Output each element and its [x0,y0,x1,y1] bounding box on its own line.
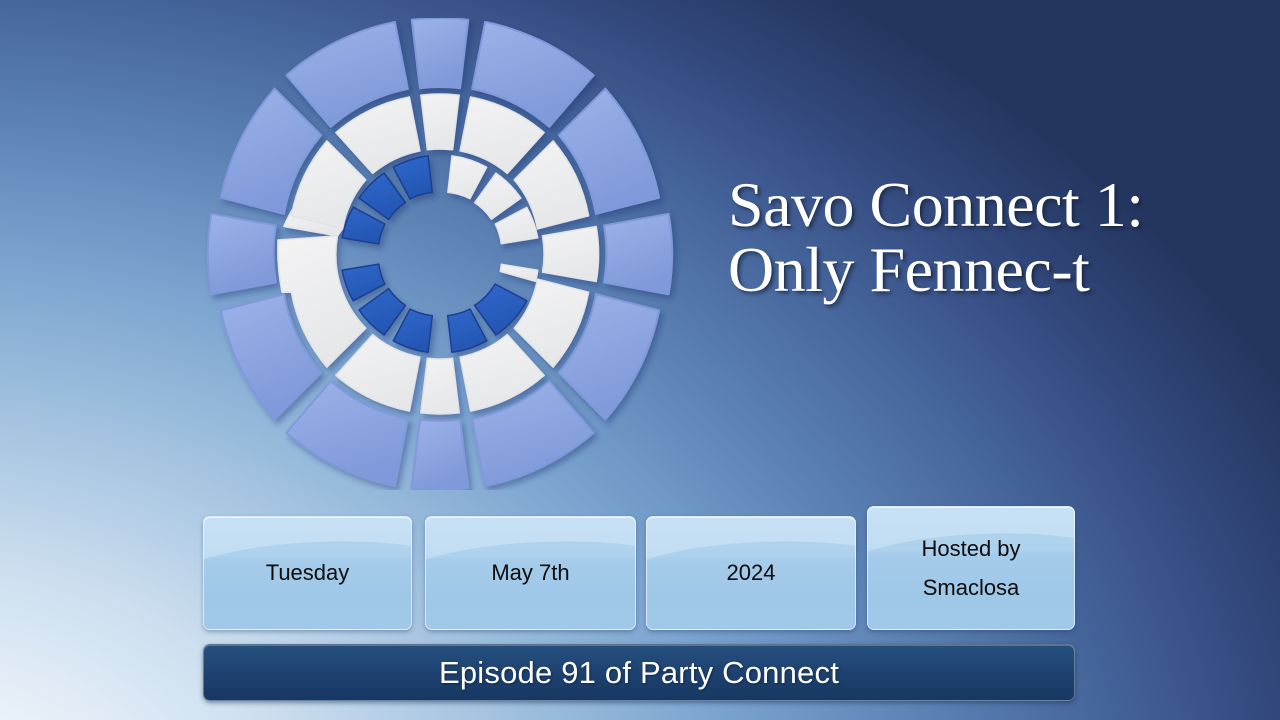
segmented-wheel-logo [168,18,712,490]
info-box-date[interactable]: May 7th [425,516,636,630]
info-box-day[interactable]: Tuesday [203,516,412,630]
info-box-date-label: May 7th [491,553,569,592]
episode-banner[interactable]: Episode 91 of Party Connect [203,644,1075,701]
info-box-year-label: 2024 [727,553,776,592]
slide-canvas: Savo Connect 1: Only Fennec-t Tuesday Ma… [0,0,1280,720]
info-box-host[interactable]: Hosted by Smaclosa [867,506,1075,630]
info-box-day-label: Tuesday [266,553,350,592]
info-box-row: Tuesday May 7th 2024 Hosted by Smaclosa [203,508,1075,630]
episode-banner-label: Episode 91 of Party Connect [439,655,839,691]
info-box-host-label: Hosted by Smaclosa [921,529,1020,607]
info-box-year[interactable]: 2024 [646,516,856,630]
slide-title: Savo Connect 1: Only Fennec-t [728,172,1268,303]
